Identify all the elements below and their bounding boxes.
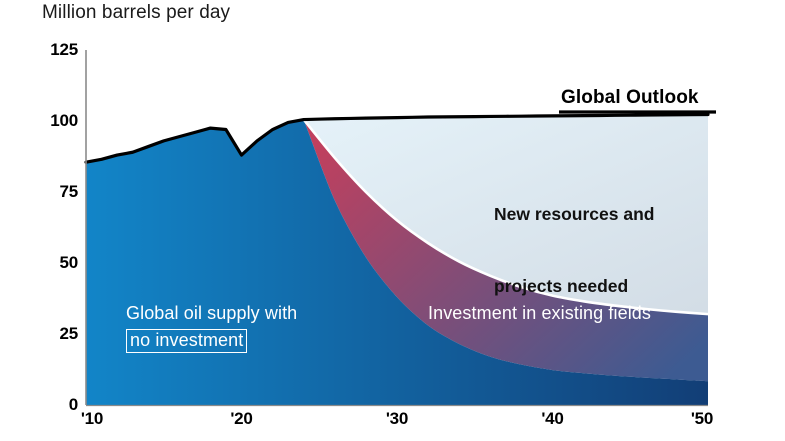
x-tick-label-50: '50 [691, 409, 713, 429]
y-tick-label-125: 125 [34, 40, 78, 60]
chart-plot-area [0, 0, 785, 441]
y-axis-ticks: 0255075100125 [26, 0, 78, 441]
y-tick-label-0: 0 [34, 395, 78, 415]
y-tick-label-25: 25 [34, 324, 78, 344]
y-tick-label-75: 75 [34, 182, 78, 202]
y-tick-label-50: 50 [34, 253, 78, 273]
chart-container: Million barrels per day [0, 0, 785, 441]
x-tick-label-40: '40 [541, 409, 563, 429]
x-tick-label-30: '30 [386, 409, 408, 429]
x-tick-label-10: '10 [81, 409, 103, 429]
y-tick-label-100: 100 [34, 111, 78, 131]
x-tick-label-20: '20 [230, 409, 252, 429]
